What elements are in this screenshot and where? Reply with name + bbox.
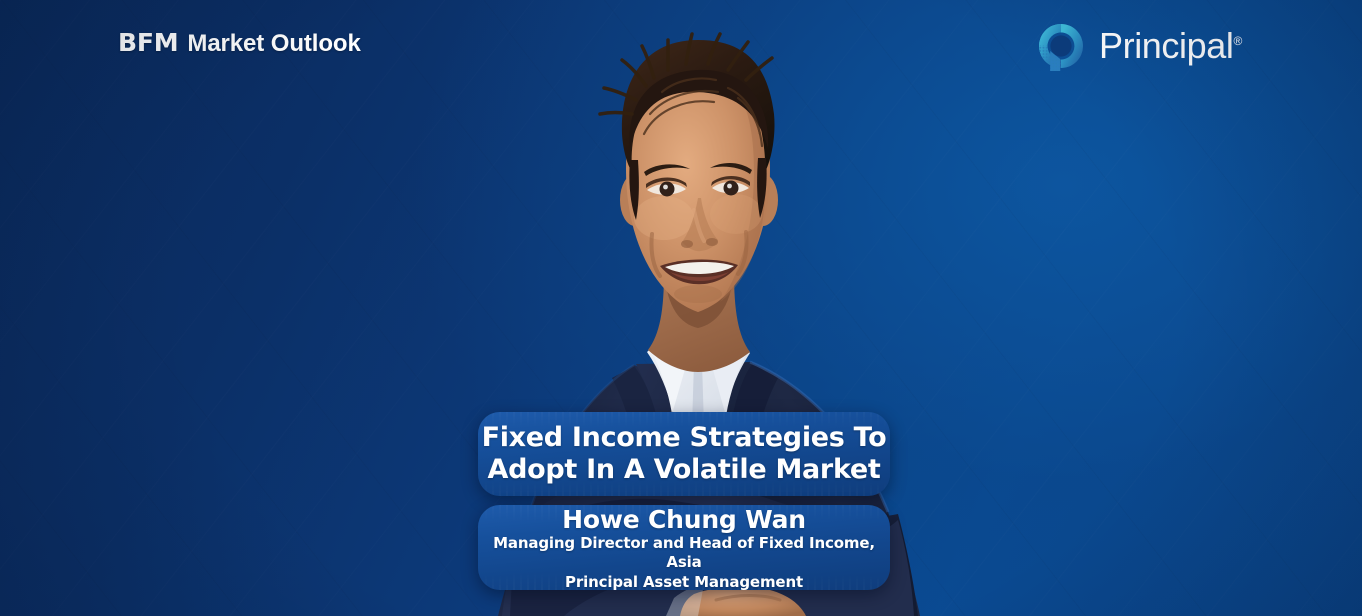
segment-title-line-2: Adopt In A Volatile Market xyxy=(488,454,881,486)
speaker-role-line-2: Principal Asset Management xyxy=(559,573,809,590)
registered-trademark-icon: ® xyxy=(1233,34,1242,48)
broadcast-graphic-stage: BFM Market Outlook xyxy=(0,0,1362,616)
program-title-text: Market Outlook xyxy=(187,30,360,58)
principal-circle-mark-icon xyxy=(1036,21,1086,71)
segment-title-banner: Fixed Income Strategies To Adopt In A Vo… xyxy=(478,412,890,496)
speaker-name: Howe Chung Wan xyxy=(562,505,806,534)
principal-wordmark: Principal® xyxy=(1099,28,1242,64)
segment-title-line-1: Fixed Income Strategies To xyxy=(482,422,887,454)
speaker-lower-third-banner: Howe Chung Wan Managing Director and Hea… xyxy=(478,505,890,590)
principal-wordmark-text: Principal xyxy=(1099,25,1233,66)
bfm-logo-text: BFM xyxy=(118,28,178,57)
principal-brand-lockup: Principal® xyxy=(1036,21,1242,71)
bfm-market-outlook-lockup: BFM Market Outlook xyxy=(118,28,361,58)
speaker-role-line-1: Managing Director and Head of Fixed Inco… xyxy=(478,534,890,573)
